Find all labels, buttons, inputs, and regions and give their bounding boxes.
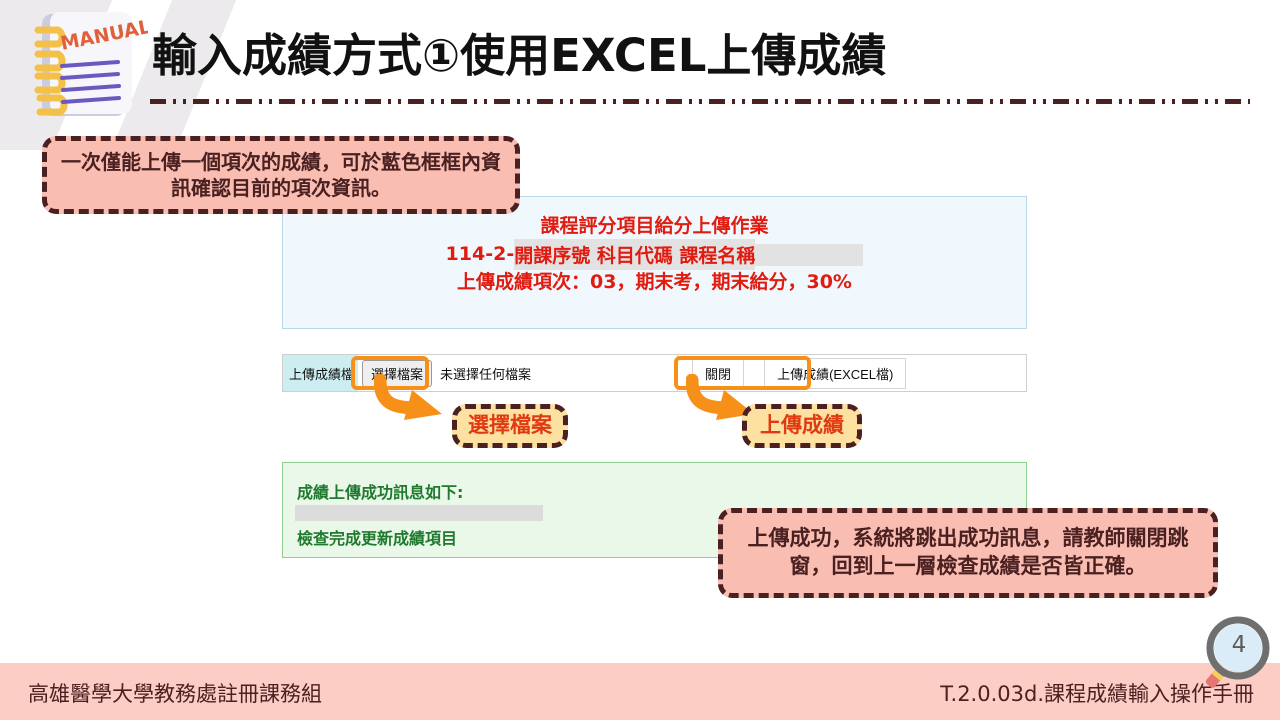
success-redaction [295, 505, 543, 521]
callout-item-note-text: 一次僅能上傳一個項次的成績，可於藍色框框內資訊確認目前的項次資訊。 [47, 149, 515, 202]
page-title: 輸入成績方式①使用EXCEL上傳成績 [152, 30, 886, 82]
info-course-line: 114-2-開課序號 科目代碼 課程名稱 [283, 239, 1026, 270]
page-number: 4 [1224, 632, 1254, 658]
callout-success-note-text: 上傳成功，系統將跳出成功訊息，請教師關閉跳窗，回到上一層檢查成績是否皆正確。 [723, 525, 1213, 580]
slide-canvas: MANUAL 輸入成績方式①使用EXCEL上傳成績 一次僅能上傳一個項次的成績，… [0, 0, 1280, 720]
success-detail: 檢查完成更新成績項目 [297, 525, 457, 549]
callout-upload: 上傳成績 [742, 404, 862, 448]
upload-field-label: 上傳成績檔 [283, 355, 358, 391]
callout-upload-text: 上傳成績 [750, 412, 854, 440]
callout-item-note: 一次僅能上傳一個項次的成績，可於藍色框框內資訊確認目前的項次資訊。 [42, 136, 520, 214]
info-item-line: 上傳成績項次：03，期末考，期末給分，30% [283, 267, 1026, 294]
callout-success-note: 上傳成功，系統將跳出成功訊息，請教師關閉跳窗，回到上一層檢查成績是否皆正確。 [718, 508, 1218, 598]
callout-choose-file-text: 選擇檔案 [458, 412, 562, 440]
info-term: 114-2- [446, 243, 515, 265]
footer-organization: 高雄醫學大學教務處註冊課務組 [28, 678, 322, 708]
callout-choose-file: 選擇檔案 [452, 404, 568, 448]
manual-notebook-icon: MANUAL [18, 4, 148, 122]
success-heading: 成績上傳成功訊息如下: [297, 479, 463, 503]
info-course-redaction [755, 244, 863, 266]
toolbar-divider [677, 355, 678, 391]
info-heading: 課程評分項目給分上傳作業 [283, 211, 1026, 238]
info-course-fields: 開課序號 科目代碼 課程名稱 [514, 239, 755, 270]
course-info-panel: 課程評分項目給分上傳作業 114-2-開課序號 科目代碼 課程名稱 上傳成績項次… [282, 196, 1027, 329]
title-underline [150, 99, 1250, 104]
